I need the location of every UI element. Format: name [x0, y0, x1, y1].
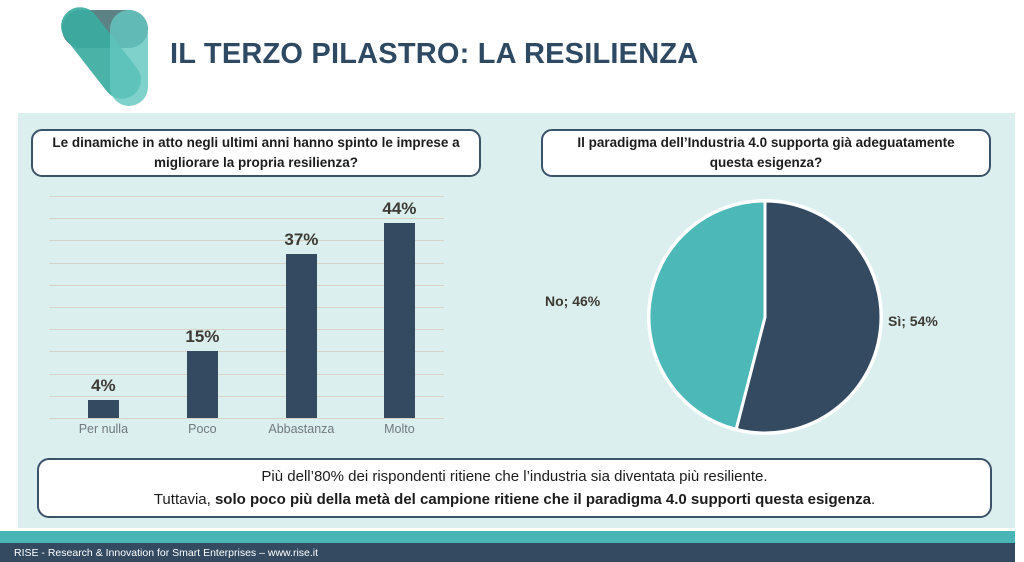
grid-line	[49, 418, 444, 419]
conclusion-line-2-suffix: .	[871, 491, 875, 508]
conclusion-line-2: Tuttavia, solo poco più della metà del c…	[154, 488, 875, 511]
bar-value-label: 44%	[350, 199, 449, 219]
bar-column: 4%	[49, 196, 148, 418]
bar-chart-category-labels: Per nullaPocoAbbastanzaMolto	[49, 420, 444, 442]
logo-bar-right	[110, 10, 148, 106]
bar-value-label: 4%	[54, 376, 153, 396]
footer-accent-bar	[0, 531, 1015, 543]
bar	[187, 351, 218, 418]
footer-bar: RISE - Research & Innovation for Smart E…	[0, 543, 1015, 562]
bar-category-label: Abbastanza	[252, 422, 351, 436]
conclusion-line-2-bold: solo poco più della metà del campione ri…	[215, 491, 871, 508]
bar-chart-bars: 4%15%37%44%	[49, 196, 444, 418]
bar	[88, 400, 119, 418]
pie-chart: No; 46% Sì; 54%	[525, 190, 995, 445]
bar-column: 44%	[345, 196, 444, 418]
bar-category-label: Per nulla	[54, 422, 153, 436]
footer-text: RISE - Research & Innovation for Smart E…	[14, 547, 318, 559]
page-title: IL TERZO PILASTRO: LA RESILIENZA	[170, 38, 698, 71]
bar	[286, 254, 317, 418]
slide-header: IL TERZO PILASTRO: LA RESILIENZA	[0, 0, 1024, 113]
conclusion-box: Più dell’80% dei rispondenti ritiene che…	[37, 458, 992, 518]
bar-column: 15%	[148, 196, 247, 418]
pie-label-si: Sì; 54%	[888, 313, 938, 329]
bar-category-label: Molto	[350, 422, 449, 436]
conclusion-line-1: Più dell’80% dei rispondenti ritiene che…	[261, 465, 767, 488]
bar-category-label: Poco	[153, 422, 252, 436]
bar-column: 37%	[247, 196, 346, 418]
bar-chart: 4%15%37%44% Per nullaPocoAbbastanzaMolto	[49, 196, 444, 441]
pie-chart-svg	[645, 197, 885, 437]
pie-label-no: No; 46%	[545, 293, 600, 309]
conclusion-line-2-prefix: Tuttavia,	[154, 491, 215, 508]
rise-logo	[52, 6, 167, 111]
bar	[384, 223, 415, 418]
question-box-left: Le dinamiche in atto negli ultimi anni h…	[31, 129, 481, 177]
bar-value-label: 37%	[252, 230, 351, 250]
bar-value-label: 15%	[153, 327, 252, 347]
question-box-right: Il paradigma dell’Industria 4.0 supporta…	[541, 129, 991, 177]
